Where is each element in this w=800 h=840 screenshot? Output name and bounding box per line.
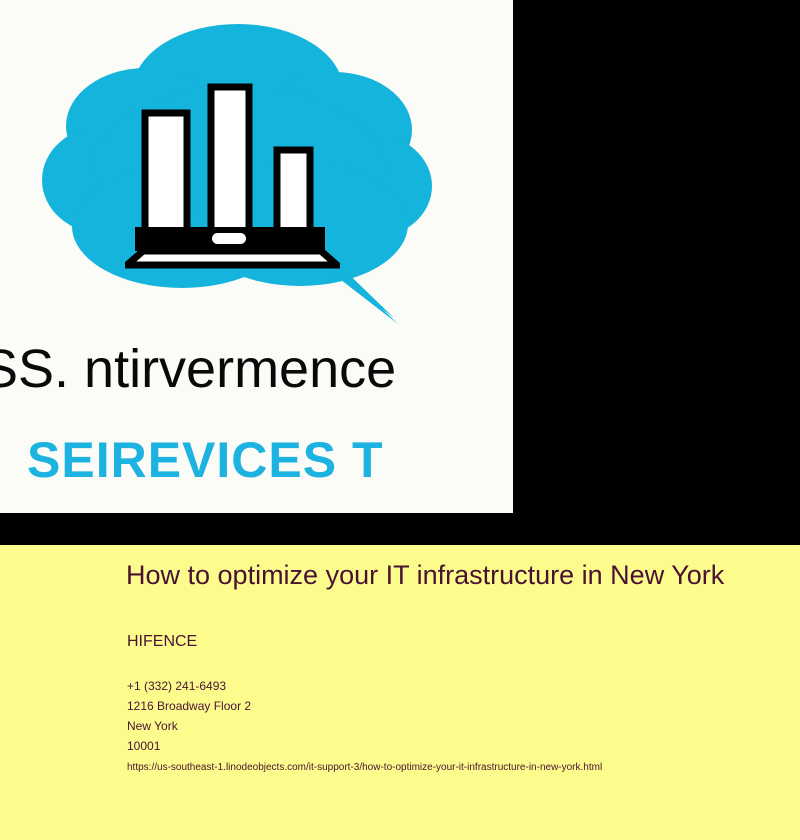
contact-phone: +1 (332) 241-6493 [127,676,747,696]
laptop-barchart-icon [125,75,340,270]
brand-name: HIFENCE [127,633,197,651]
logo-wordmark-line-2: SEIREVICES T [27,430,513,490]
contact-street: 1216 Broadway Floor 2 [127,696,747,716]
contact-block: +1 (332) 241-6493 1216 Broadway Floor 2 … [127,676,747,756]
logo-card: SS. ntirvermence SEIREVICES T [0,0,513,513]
source-url-link[interactable]: https://us-southeast-1.linodeobjects.com… [127,761,602,775]
content-panel: How to optimize your IT infrastructure i… [0,545,800,840]
logo-wordmark-line-1: SS. ntirvermence [0,336,513,402]
contact-zip: 10001 [127,736,747,756]
page-title: How to optimize your IT infrastructure i… [126,560,726,591]
page-root: SS. ntirvermence SEIREVICES T How to opt… [0,0,800,840]
hero-image-panel: SS. ntirvermence SEIREVICES T [0,0,800,545]
contact-city: New York [127,716,747,736]
